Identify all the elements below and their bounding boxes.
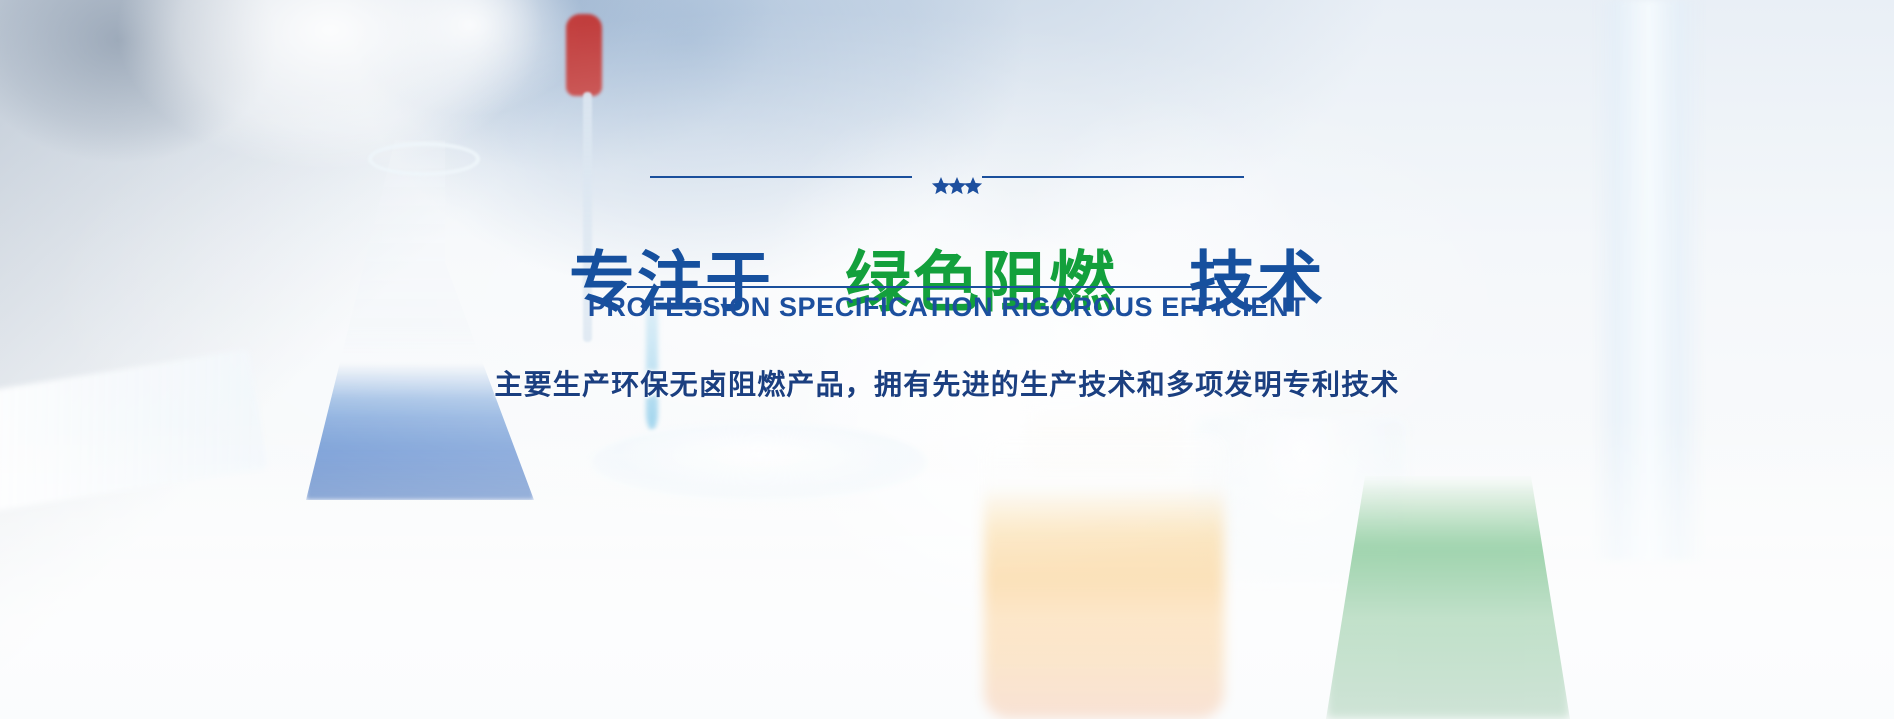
hero-banner: 专注于 绿色阻燃 技术 PROFESSION SPECIFICATION RIG… [0, 0, 1894, 719]
banner-tagline: 主要生产环保无卤阻燃产品，拥有先进的生产技术和多项发明专利技术 [494, 363, 1399, 403]
headline-bottom-divider [627, 286, 1267, 288]
divider-line-left [650, 176, 912, 178]
banner-content: 专注于 绿色阻燃 技术 PROFESSION SPECIFICATION RIG… [0, 0, 1894, 719]
headline-top-divider [627, 176, 1267, 178]
divider-line-right [982, 176, 1244, 178]
banner-subtitle: PROFESSION SPECIFICATION RIGOROUS EFFICI… [588, 292, 1306, 323]
